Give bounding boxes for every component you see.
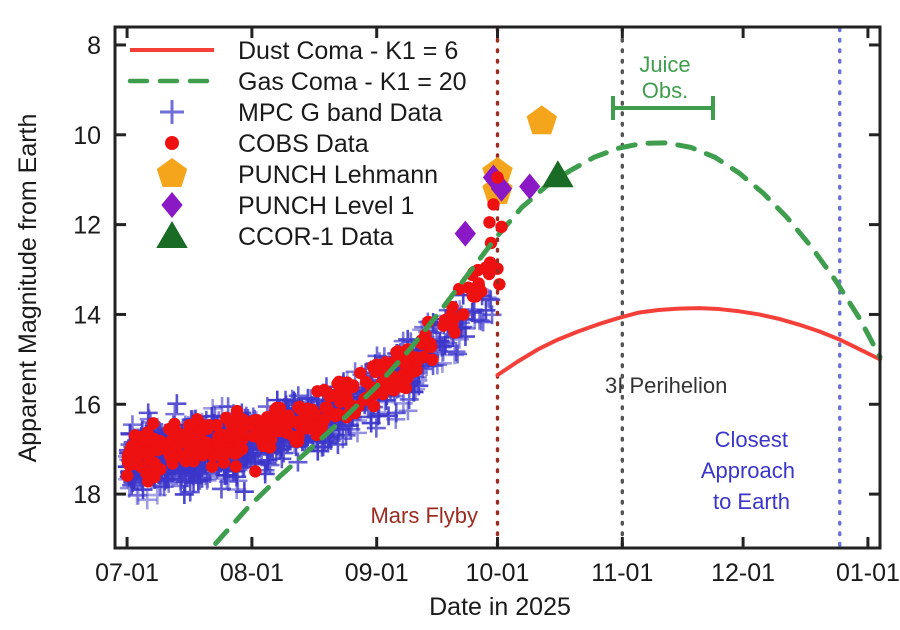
y-axis-title: Apparent Magnitude from Earth <box>14 114 42 463</box>
cobs-data-point <box>487 198 499 210</box>
legend-label: CCOR-1 Data <box>238 223 394 251</box>
cobs-data-point <box>360 376 372 388</box>
y-tick-label: 14 <box>73 301 101 329</box>
cobs-data-point <box>439 314 451 326</box>
cobs-data-point <box>187 455 199 467</box>
cobs-data-point <box>278 423 290 435</box>
y-tick-label: 16 <box>73 391 101 419</box>
cobs-data-point <box>426 354 438 366</box>
cobs-data-point <box>392 345 404 357</box>
legend-label: PUNCH Level 1 <box>238 192 414 220</box>
cobs-data-point <box>473 279 485 291</box>
mars-flyby-annotation: Mars Flyby <box>370 503 478 528</box>
cobs-data-point <box>319 402 331 414</box>
cobs-data-point <box>222 430 234 442</box>
cobs-data-point <box>262 429 274 441</box>
cobs-data-point <box>385 380 397 392</box>
cobs-data-point <box>264 441 276 453</box>
cobs-data-point <box>368 400 380 412</box>
cobs-data-point <box>249 465 261 477</box>
cobs-data-point <box>199 441 211 453</box>
cobs-data-point <box>410 351 422 363</box>
cobs-data-point <box>183 419 195 431</box>
juice-obs-line1: Juice <box>639 52 690 77</box>
y-tick-label: 10 <box>73 122 101 150</box>
cobs-data-point <box>148 433 160 445</box>
cobs-data-point <box>206 460 218 472</box>
cobs-data-point <box>121 470 133 482</box>
legend-dot-swatch <box>165 136 179 150</box>
cobs-data-point <box>270 408 282 420</box>
cobs-data-point <box>493 278 505 290</box>
cobs-data-point <box>333 376 345 388</box>
closest-approach-line3: to Earth <box>713 489 790 514</box>
y-tick-label: 8 <box>87 32 101 60</box>
closest-approach-line2: Approach <box>701 458 795 483</box>
closest-approach-line1: Closest <box>715 427 788 452</box>
magnitude-vs-date-chart: 81012141618 07-0108-0109-0110-0111-0112-… <box>0 0 900 630</box>
legend-label: PUNCH Lehmann <box>238 161 438 189</box>
x-tick-label: 11-01 <box>591 559 653 587</box>
x-tick-label: 09-01 <box>345 559 409 587</box>
legend-label: MPC G band Data <box>238 99 442 127</box>
cobs-data-point <box>163 423 175 435</box>
cobs-data-point <box>495 221 507 233</box>
cobs-data-point <box>399 358 411 370</box>
cobs-data-point <box>300 413 312 425</box>
y-tick-label: 18 <box>73 481 101 509</box>
cobs-data-point <box>288 431 300 443</box>
cobs-data-point <box>483 216 495 228</box>
x-tick-label: 12-01 <box>711 559 775 587</box>
x-tick-label: 08-01 <box>220 559 284 587</box>
cobs-data-point <box>217 450 229 462</box>
figure-container: 81012141618 07-0108-0109-0110-0111-0112-… <box>0 0 900 630</box>
cobs-data-point <box>224 417 236 429</box>
cobs-data-point <box>137 432 149 444</box>
cobs-data-point <box>318 384 330 396</box>
cobs-data-point <box>231 405 243 417</box>
legend-label: Dust Coma - K1 = 6 <box>238 37 458 65</box>
x-axis-title: Date in 2025 <box>429 593 571 621</box>
juice-obs-line2: Obs. <box>642 78 688 103</box>
perihelion-annotation: 3I Perihelion <box>605 373 727 398</box>
cobs-data-point <box>147 417 159 429</box>
cobs-data-point <box>147 459 159 471</box>
cobs-data-point <box>467 290 479 302</box>
cobs-data-point <box>448 326 460 338</box>
cobs-data-point <box>131 443 143 455</box>
cobs-data-point <box>193 429 205 441</box>
legend-label: Gas Coma - K1 = 20 <box>238 68 467 96</box>
cobs-data-point <box>491 171 503 183</box>
cobs-data-point <box>232 446 244 458</box>
y-tick-label: 12 <box>73 212 101 240</box>
x-tick-label: 10-01 <box>466 559 530 587</box>
legend-label: COBS Data <box>238 130 369 158</box>
cobs-data-point <box>127 458 139 470</box>
cobs-data-point <box>163 449 175 461</box>
x-tick-label: 07-01 <box>95 559 159 587</box>
cobs-data-point <box>401 372 413 384</box>
cobs-data-point <box>230 460 242 472</box>
x-tick-label: 01-01 <box>836 559 900 587</box>
cobs-data-point <box>457 308 469 320</box>
cobs-data-point <box>151 444 163 456</box>
